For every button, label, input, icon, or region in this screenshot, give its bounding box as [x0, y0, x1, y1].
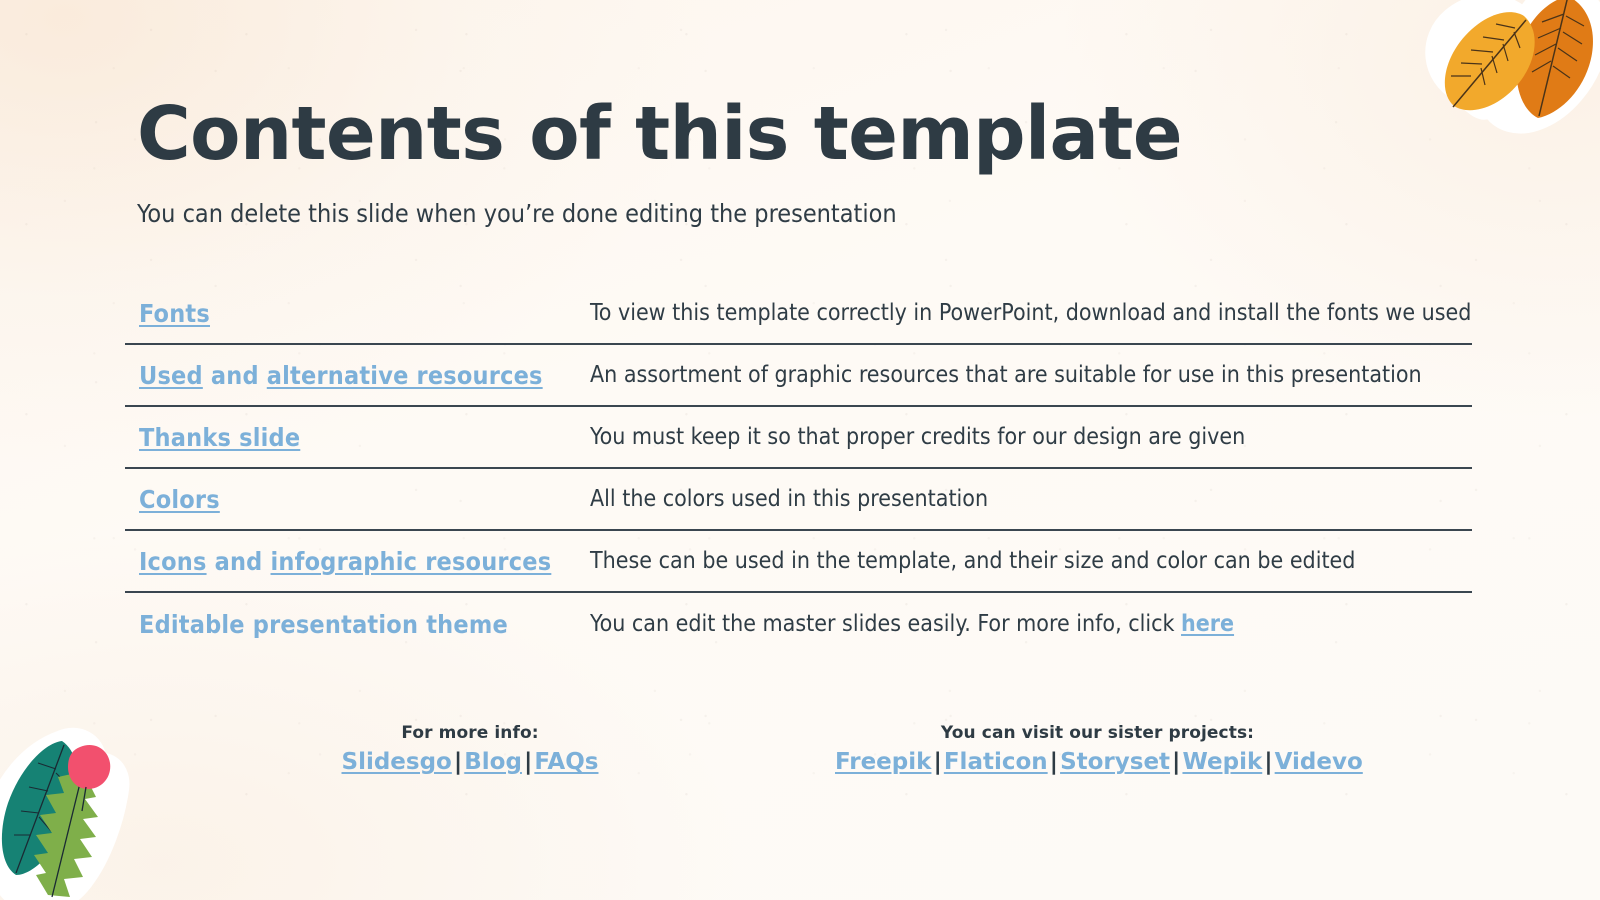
link-fonts[interactable]: Fonts	[139, 299, 210, 328]
contents-description: You must keep it so that proper credits …	[590, 426, 1472, 449]
pink-flower-bud	[68, 745, 110, 811]
table-row: Editable presentation theme You can edit…	[125, 593, 1472, 655]
link-freepik[interactable]: Freepik	[835, 749, 931, 775]
link-alternative-resources[interactable]: alternative resources	[267, 361, 543, 390]
green-fern-leaf	[34, 773, 98, 897]
contents-link-cell: Editable presentation theme	[125, 612, 590, 637]
contents-description: All the colors used in this presentation	[590, 488, 1472, 511]
contents-description: An assortment of graphic resources that …	[590, 364, 1472, 387]
link-infographic-resources[interactable]: infographic resources	[271, 547, 552, 576]
table-row: Colors All the colors used in this prese…	[125, 469, 1472, 531]
contents-description: These can be used in the template, and t…	[590, 550, 1472, 573]
conjunction-and: and	[203, 361, 267, 390]
slide-canvas: Contents of this template You can delete…	[0, 0, 1600, 900]
separator: |	[1170, 749, 1182, 775]
link-wepik[interactable]: Wepik	[1182, 749, 1262, 775]
link-icons[interactable]: Icons	[139, 547, 207, 576]
tropical-leaves-flower-sticker	[0, 715, 132, 900]
contents-table: Fonts To view this template correctly in…	[125, 283, 1472, 655]
contents-link-cell: Fonts	[125, 301, 590, 326]
orange-leaf	[1516, 0, 1593, 118]
footer-right-heading: You can visit our sister projects:	[835, 722, 1360, 744]
contents-description: To view this template correctly in Power…	[590, 302, 1472, 325]
separator: |	[931, 749, 943, 775]
separator: |	[452, 749, 464, 775]
footer-left-links: Slidesgo|Blog|FAQs	[295, 748, 645, 777]
contents-description: You can edit the master slides easily. F…	[590, 613, 1472, 636]
link-thanks-slide[interactable]: Thanks slide	[139, 423, 300, 452]
link-here[interactable]: here	[1181, 611, 1234, 637]
contents-link-cell: Thanks slide	[125, 425, 590, 450]
description-text: You can edit the master slides easily. F…	[590, 611, 1181, 637]
teal-leaf	[2, 741, 78, 875]
leaf-sticker-outline	[0, 734, 123, 900]
table-row: Fonts To view this template correctly in…	[125, 283, 1472, 345]
footer-sister-projects: You can visit our sister projects: Freep…	[835, 722, 1360, 777]
link-blog[interactable]: Blog	[464, 749, 522, 775]
footer-left-heading: For more info:	[295, 722, 645, 744]
contents-link-cell: Icons and infographic resources	[125, 549, 590, 574]
table-row: Used and alternative resources An assort…	[125, 345, 1472, 407]
conjunction-and: and	[207, 547, 271, 576]
leaf-sticker-outline	[1433, 0, 1600, 126]
contents-link-cell: Used and alternative resources	[125, 363, 590, 388]
autumn-leaves-sticker	[1398, 0, 1600, 152]
separator: |	[1262, 749, 1274, 775]
link-storyset[interactable]: Storyset	[1060, 749, 1170, 775]
contents-link-cell: Colors	[125, 487, 590, 512]
link-colors[interactable]: Colors	[139, 485, 220, 514]
link-used[interactable]: Used	[139, 361, 203, 390]
page-title: Contents of this template	[137, 97, 1182, 171]
yellow-leaf	[1445, 12, 1535, 110]
link-flaticon[interactable]: Flaticon	[944, 749, 1048, 775]
footer-more-info: For more info: Slidesgo|Blog|FAQs	[295, 722, 645, 777]
footer-right-links: Freepik|Flaticon|Storyset|Wepik|Videvo	[835, 748, 1360, 777]
link-slidesgo[interactable]: Slidesgo	[342, 749, 452, 775]
separator: |	[522, 749, 534, 775]
link-faqs[interactable]: FAQs	[534, 749, 598, 775]
page-subtitle: You can delete this slide when you’re do…	[137, 198, 897, 229]
separator: |	[1048, 749, 1060, 775]
label-editable-presentation-theme: Editable presentation theme	[139, 610, 508, 639]
table-row: Icons and infographic resources These ca…	[125, 531, 1472, 593]
link-videvo[interactable]: Videvo	[1275, 749, 1363, 775]
table-row: Thanks slide You must keep it so that pr…	[125, 407, 1472, 469]
